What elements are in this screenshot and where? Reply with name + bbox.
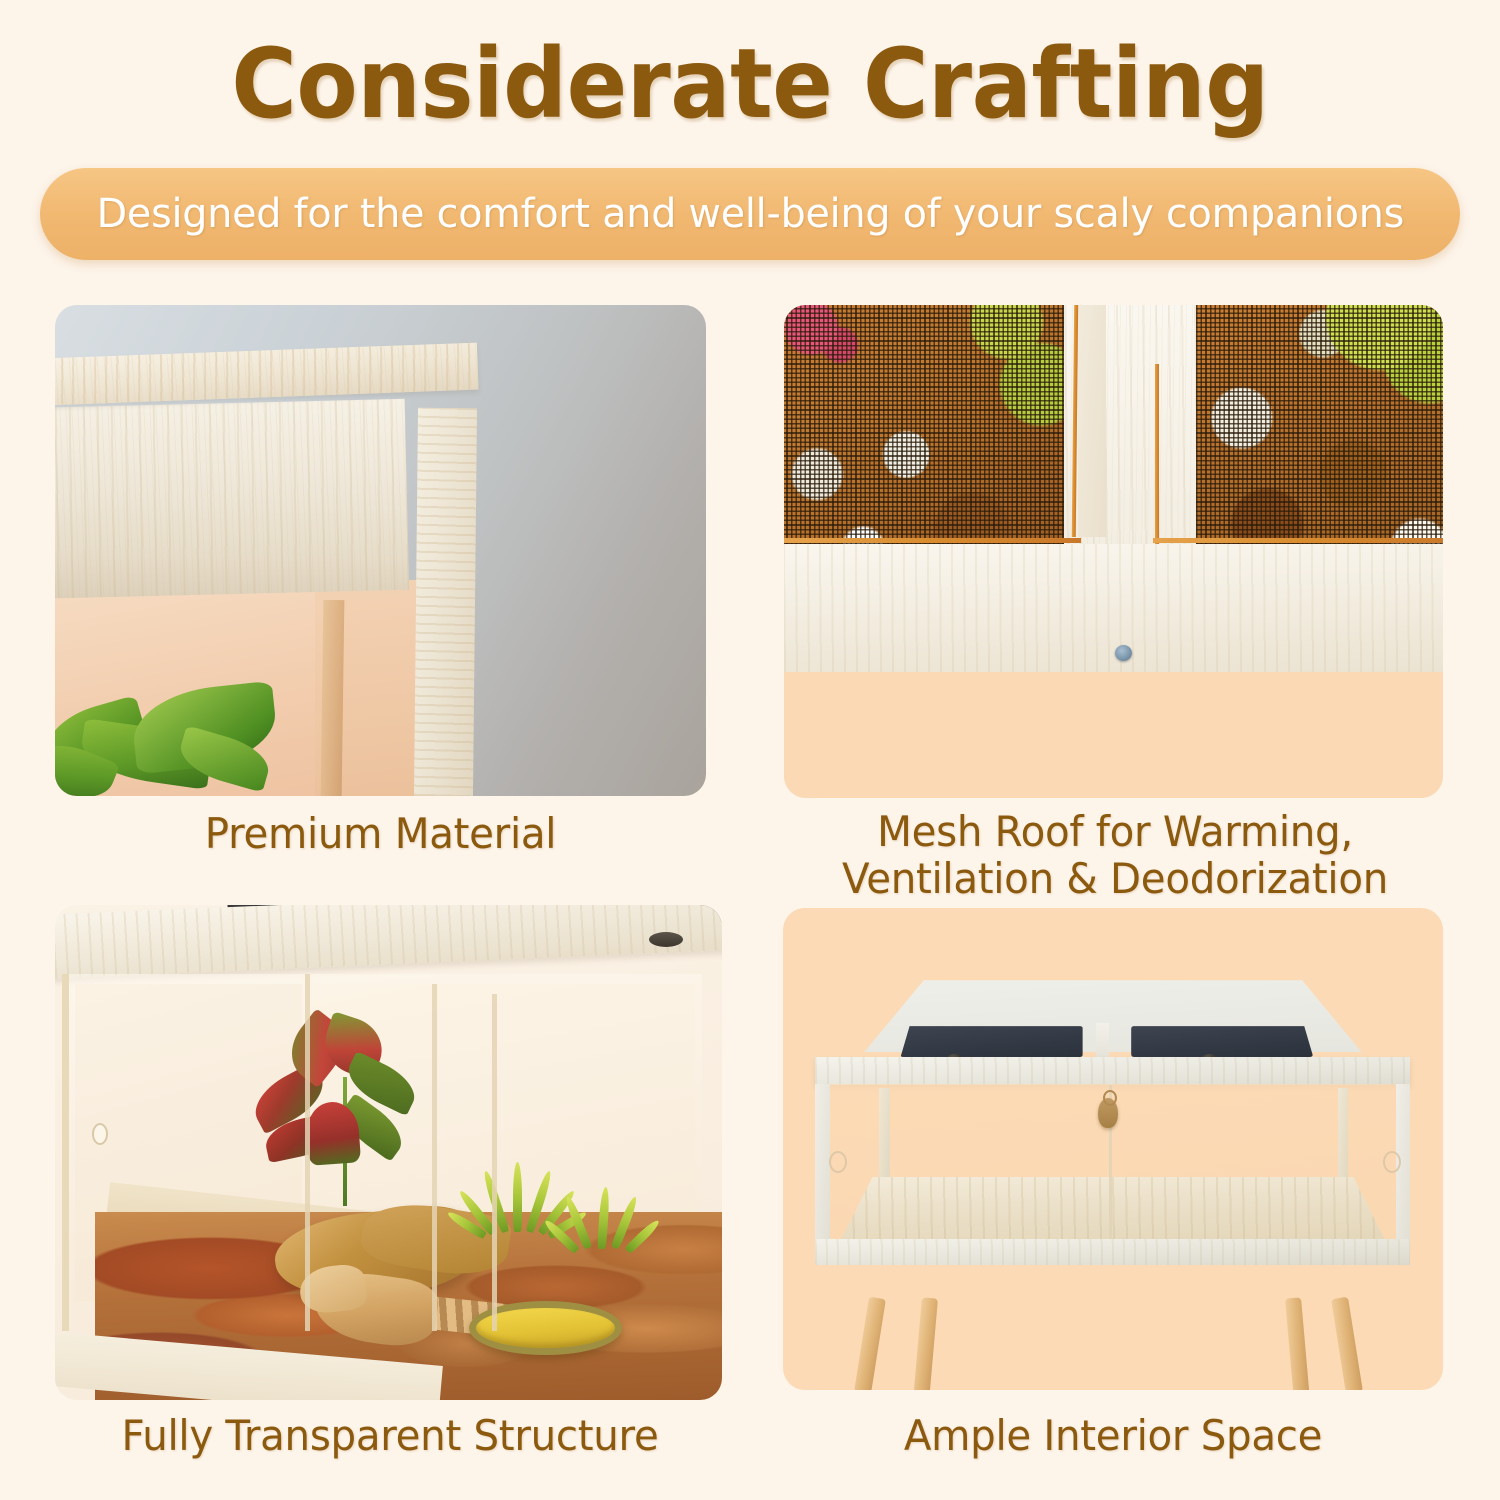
wood-corner-post [414,408,477,796]
roof-knob-icon [649,932,683,947]
screw-icon [1115,645,1132,661]
red-green-plant [262,1019,435,1227]
feature-image-transparent-structure [55,905,722,1400]
acrylic-panel-seam [492,994,497,1331]
succulent-right [562,1187,642,1266]
acrylic-panel-seam [305,974,310,1330]
door-handle-icon [92,1123,108,1145]
mesh-panel-left [900,1026,1082,1057]
peach-band [784,672,1443,798]
subtitle-banner: Designed for the comfort and well-being … [40,168,1460,260]
feature-caption-premium-material: Premium Material [68,810,693,857]
wood-divider-strip [1078,305,1106,537]
wood-lower-rail [784,544,1443,672]
roof-center-divider [1096,1023,1109,1062]
wood-side-post-left [815,1084,830,1241]
wooden-leg [321,599,345,796]
amber-seam-horizontal [1153,538,1443,543]
succulent-spike [513,1162,522,1231]
amber-seam-horizontal [784,538,1081,543]
feature-caption-interior-space: Ample Interior Space [796,1412,1430,1459]
acrylic-panel-seam [432,984,437,1331]
feature-caption-mesh-roof: Mesh Roof for Warming, Ventilation & Deo… [784,808,1446,902]
vent-hole-icon [1383,1151,1401,1173]
vent-hole-icon [829,1151,847,1173]
succulent-left [475,1162,562,1251]
lock-icon [1098,1098,1118,1128]
succulent-spike [597,1187,610,1249]
wood-floor [840,1177,1386,1243]
feature-caption-transparent-structure: Fully Transparent Structure [54,1412,726,1459]
subtitle-text: Designed for the comfort and well-being … [96,191,1403,237]
wood-top-rail [815,1057,1410,1085]
wood-base-rail [815,1239,1410,1265]
mesh-panel-right [1131,1026,1313,1057]
feature-image-mesh-roof [784,305,1443,798]
page-title: Considerate Crafting [53,34,1448,135]
feature-image-premium-material [55,305,706,796]
amber-seam-vertical [1155,364,1159,546]
wood-front-panel [55,399,409,600]
terrarium-cabinet [809,980,1416,1308]
feature-image-interior-space [783,908,1443,1390]
